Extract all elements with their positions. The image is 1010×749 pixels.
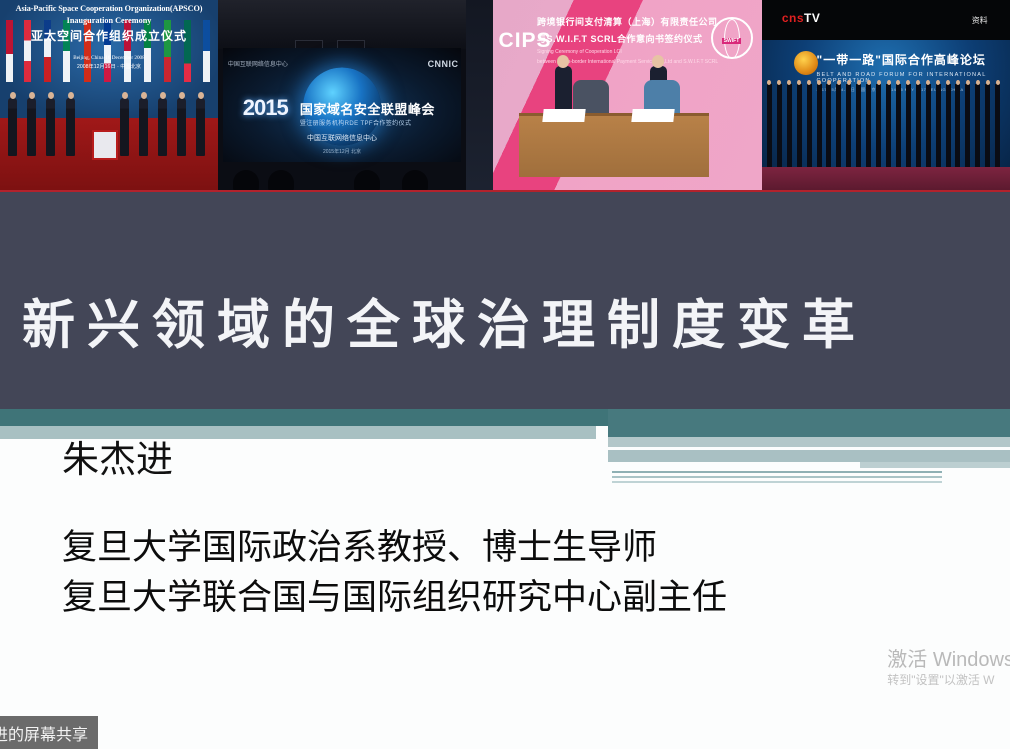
photo-cnnic-organizer: 中国互联网络信息中心 [218,133,466,143]
decor-band-notch-right [860,462,1010,468]
decor-band-mid-right [608,450,1010,462]
photo-cips-document-1 [542,109,585,122]
decor-band-notch-left [608,462,860,466]
screen-share-label: 进的屏幕共享 [0,721,88,745]
photo-cips-subhead-1: Signing Ceremony of Cooperation LOI [537,49,622,55]
photo-cips-document-2 [631,109,674,122]
photo-brf-group-photo [762,84,1010,168]
photo-apsco-caption-en2: Inauguration Ceremony [0,16,218,25]
windows-activation-watermark: 激活 Windows 转到"设置"以激活 W [887,648,1010,689]
photo-apsco-caption-en1: Asia-Pacific Space Cooperation Organizat… [0,4,218,13]
photo-cips-headline-1: 跨境银行间支付清算（上海）有限责任公司 [537,15,718,28]
photo-cnnic-year: 2015 [243,95,288,121]
photo-belt-and-road-forum: cnsTV 资料 "一带一路"国际合作高峰论坛 BELT AND ROAD FO… [762,0,1010,190]
photo-cnnic-logo-left: 中国互联网络信息中心 [228,59,288,68]
slide-photo-strip: Asia-Pacific Space Cooperation Organizat… [0,0,1010,190]
decor-band-light-left [0,426,596,439]
photo-brf-stage-floor [762,167,1010,190]
speaker-name: 朱杰进 [62,440,173,483]
photo-apsco-inauguration: Asia-Pacific Space Cooperation Organizat… [0,0,218,190]
watermark-line-1: 激活 Windows [887,648,1010,672]
photo-apsco-caption-sub-zh: 2008年12月16日 · 中国北京 [0,65,218,71]
photo-cnnic-logo-right: CNNIC [428,59,459,69]
watermark-line-2: 转到"设置"以激活 W [887,672,1010,689]
photo-cips-headline-2: 与S.W.I.F.T SCRL合作意向书签约仪式 [537,32,703,45]
decor-hairline-1 [612,471,942,473]
photo-cnnic-domain-summit: 中国互联网络信息中心 CNNIC 2015 国家域名安全联盟峰会 暨注册服务机构… [218,0,466,190]
speaker-affiliation-line-1: 复旦大学国际政治系教授、博士生导师 [62,523,727,573]
photo-cips-standing-person-1 [555,66,572,110]
decor-hairline-3 [612,481,942,483]
photo-brf-headline-en: BELT AND ROAD FORUM FOR INTERNATIONAL CO… [817,72,1010,84]
slide-title: 新兴领域的全球治理制度变革 [22,300,982,353]
decor-band-light-right [608,437,1010,447]
photo-cnnic-headline: 国家域名安全联盟峰会 [300,99,435,118]
photo-cips-side-wall [466,0,493,190]
photo-cips-swift-signing: CIPS SWIFT 跨境银行间支付清算（上海）有限责任公司 与S.W.I.F.… [466,0,762,190]
photo-cnnic-subhead: 暨注册服务机构RDE TPF合作签约仪式 [300,118,412,127]
photo-brf-headline: "一带一路"国际合作高峰论坛 [817,51,986,68]
decor-band-dark-left [0,409,608,426]
shared-screen-viewport: Asia-Pacific Space Cooperation Organizat… [0,0,1010,749]
photo-apsco-caption-zh: 亚太空间合作组织成立仪式 [0,30,218,44]
decor-hairline-2 [612,476,942,478]
speaker-affiliation: 复旦大学国际政治系教授、博士生导师 复旦大学联合国与国际组织研究中心副主任 [62,523,727,622]
slide-red-rule [0,190,1010,192]
photo-cips-signing-table [519,116,708,177]
cnstv-logo: cnsTV [782,11,821,25]
photo-apsco-plaque [92,130,118,160]
photo-cips-brand-right: SWIFT [722,38,742,44]
decor-band-dark-right [608,409,1010,437]
photo-cnnic-audience [218,152,466,190]
screen-share-indicator[interactable]: 进的屏幕共享 [0,716,98,749]
photo-apsco-caption-sub-en: Beijing, China·16 December 2008 [0,56,218,62]
photo-brf-corner-label: 资料 [972,15,988,26]
speaker-affiliation-line-2: 复旦大学联合国与国际组织研究中心副主任 [62,573,727,623]
